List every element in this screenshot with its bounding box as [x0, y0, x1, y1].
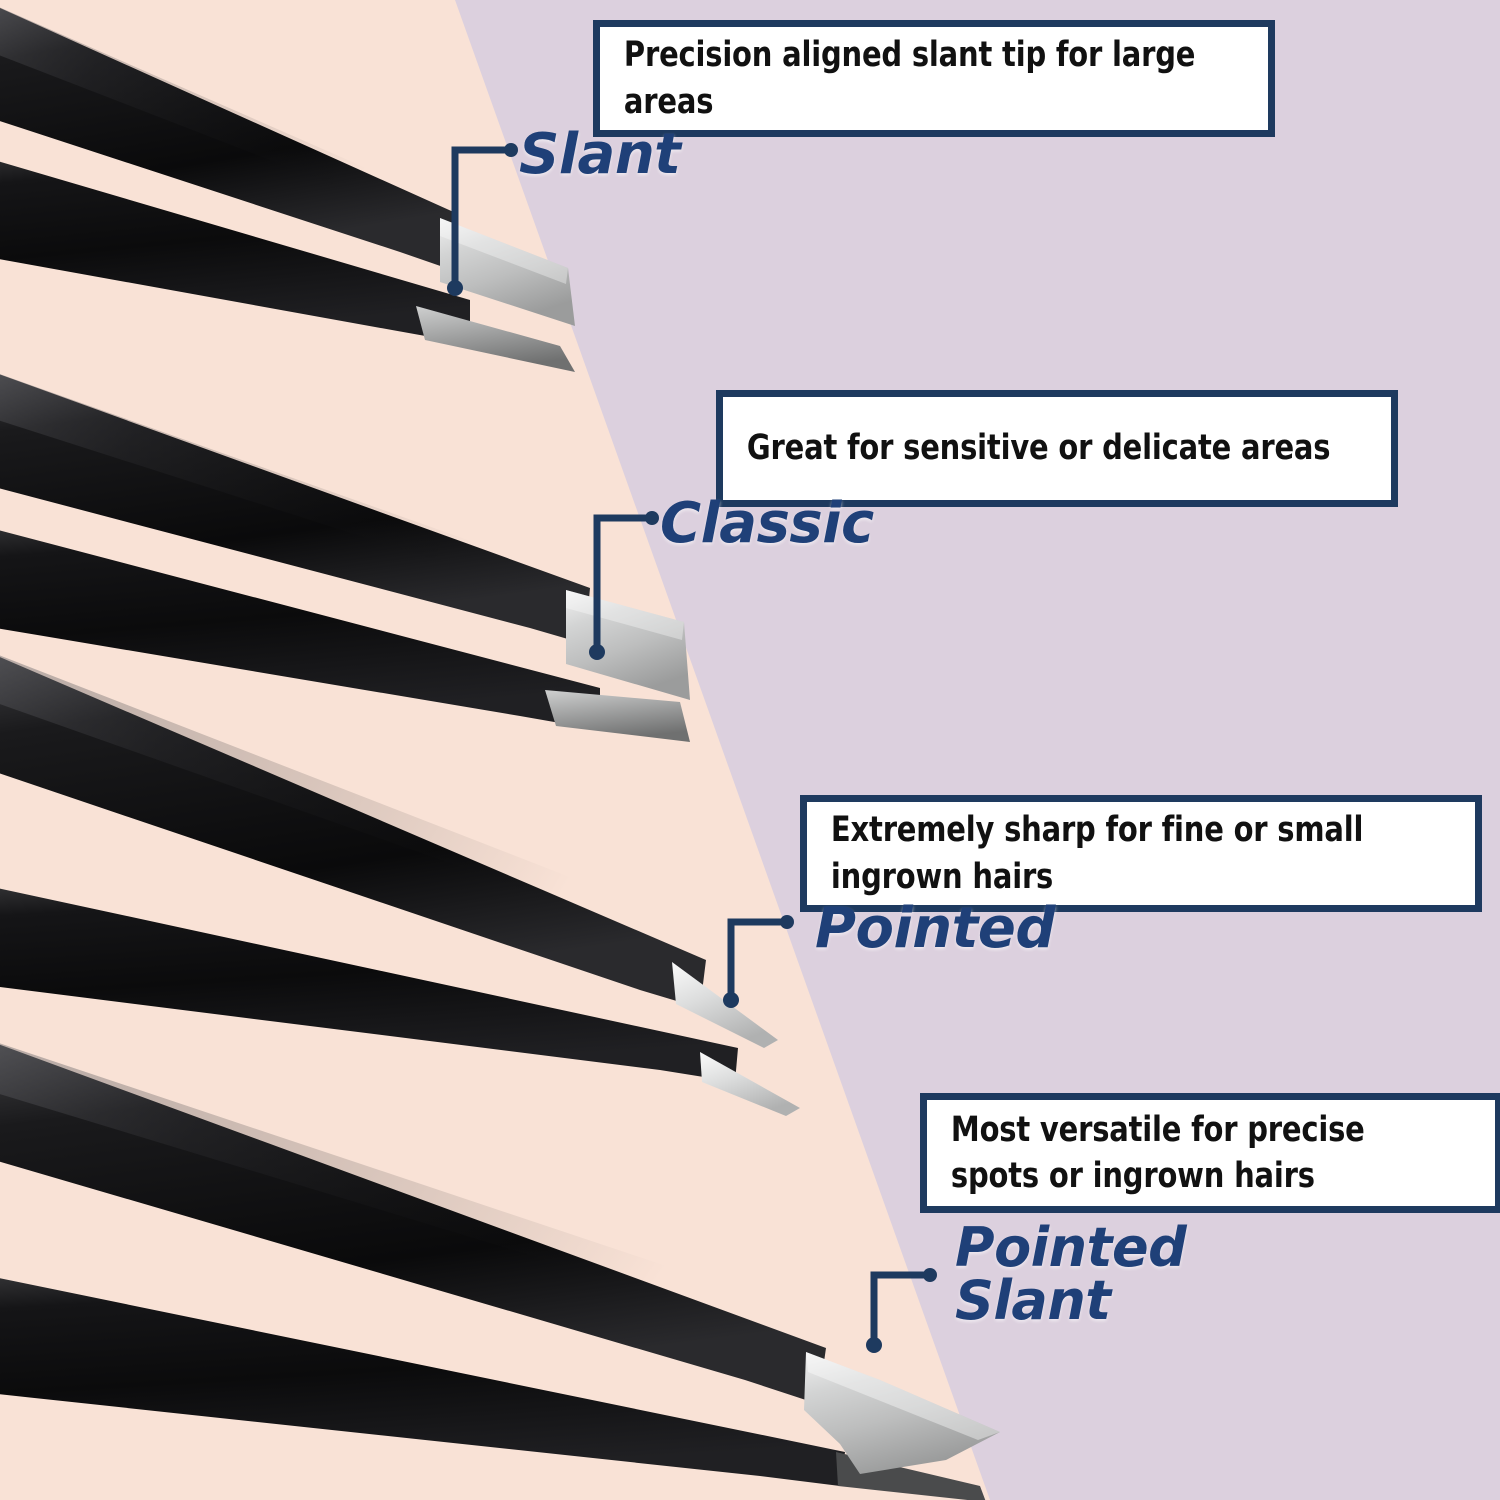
- callout-box-classic: Great for sensitive or delicate areas: [716, 390, 1398, 507]
- background-split: [0, 0, 1500, 1500]
- callout-box-pointed: Extremely sharp for fine or small ingrow…: [800, 795, 1482, 912]
- callout-box-slant: Precision aligned slant tip for large ar…: [593, 20, 1275, 137]
- infographic-canvas: Precision aligned slant tip for large ar…: [0, 0, 1500, 1500]
- label-pointed-slant: Pointed Slant: [955, 1222, 1186, 1328]
- label-classic: Classic: [660, 497, 874, 552]
- callout-text-pointed-slant: Most versatile for precise spots or ingr…: [927, 1107, 1450, 1199]
- callout-text-slant: Precision aligned slant tip for large ar…: [600, 32, 1215, 124]
- callout-text-classic: Great for sensitive or delicate areas: [723, 425, 1336, 471]
- callout-box-pointed-slant: Most versatile for precise spots or ingr…: [920, 1093, 1500, 1213]
- label-slant: Slant: [519, 128, 680, 183]
- label-pointed: Pointed: [815, 902, 1055, 957]
- callout-text-pointed: Extremely sharp for fine or small ingrow…: [807, 807, 1422, 899]
